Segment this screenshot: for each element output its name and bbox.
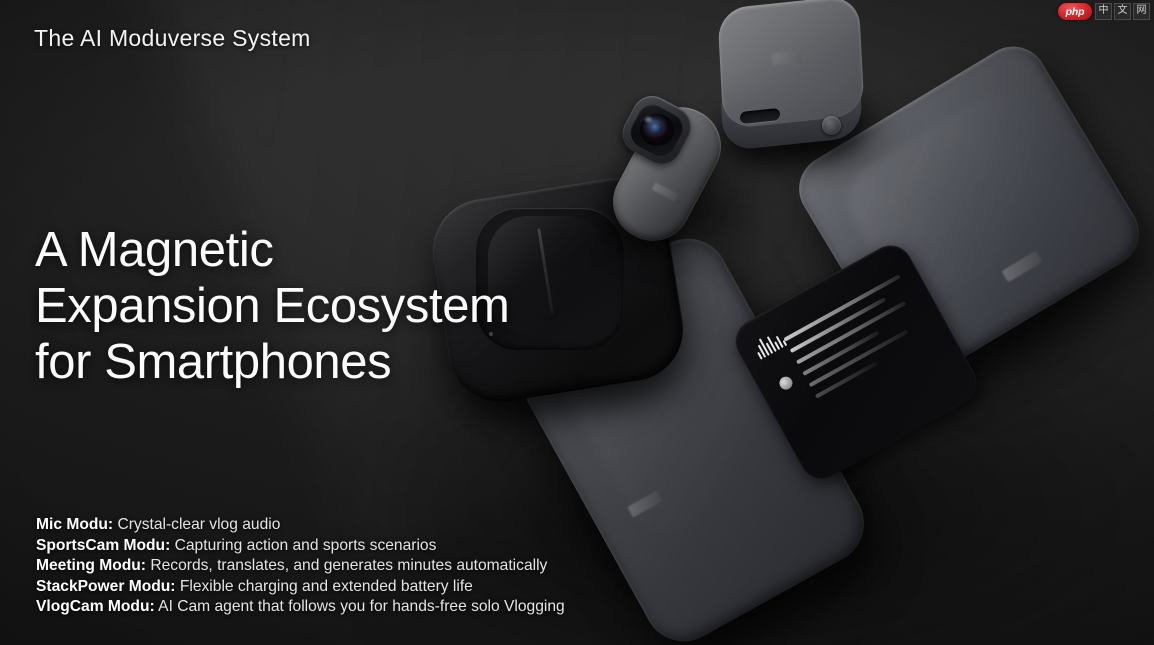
cube-power-button[interactable] <box>822 116 841 135</box>
feature-desc: Crystal-clear vlog audio <box>117 516 280 533</box>
eyebrow-title: The AI Moduverse System <box>34 25 311 52</box>
watermark-char: 文 <box>1114 3 1131 20</box>
watermark-char: 中 <box>1095 3 1112 20</box>
list-item: Mic Modu: Crystal-clear vlog audio <box>36 515 565 536</box>
hero-poster: The AI Moduverse System A Magnetic Expan… <box>0 0 1154 645</box>
feature-name: StackPower Modu: <box>36 578 176 595</box>
transcript-line <box>790 297 886 353</box>
feature-name: Mic Modu: <box>36 516 113 533</box>
feature-desc: AI Cam agent that follows you for hands-… <box>158 598 565 615</box>
list-item: VlogCam Modu: AI Cam agent that follows … <box>36 597 565 618</box>
headline-line-2: Expansion Ecosystem <box>35 278 509 334</box>
watermark-cn-text: 中 文 网 <box>1095 3 1150 20</box>
sportscam-lens-specular <box>645 117 652 122</box>
list-item: StackPower Modu: Flexible charging and e… <box>36 577 565 598</box>
transcript-line <box>796 301 906 365</box>
feature-list: Mic Modu: Crystal-clear vlog audio Sport… <box>36 515 565 618</box>
feature-desc: Flexible charging and extended battery l… <box>180 578 473 595</box>
transcript-line <box>809 329 909 387</box>
headline-line-1: A Magnetic <box>35 222 509 278</box>
transcript-lines <box>783 270 943 406</box>
audio-waveform-icon <box>751 328 787 360</box>
sportscam-lens-pupil <box>649 122 663 135</box>
php-logo-icon: php <box>1058 3 1092 20</box>
watermark: php 中 文 网 <box>1058 3 1150 20</box>
feature-desc: Records, translates, and generates minut… <box>150 557 547 574</box>
speaker-avatar-icon <box>777 374 795 392</box>
feature-name: Meeting Modu: <box>36 557 146 574</box>
list-item: SportsCam Modu: Capturing action and spo… <box>36 536 565 557</box>
feature-name: SportsCam Modu: <box>36 537 170 554</box>
device-mic-modu <box>688 150 808 260</box>
transcript-line <box>783 274 900 341</box>
feature-desc: Capturing action and sports scenarios <box>175 537 437 554</box>
feature-name: VlogCam Modu: <box>36 598 155 615</box>
watermark-char: 网 <box>1133 3 1150 20</box>
list-item: Meeting Modu: Records, translates, and g… <box>36 556 565 577</box>
page-title: A Magnetic Expansion Ecosystem for Smart… <box>35 222 509 390</box>
headline-line-3: for Smartphones <box>35 334 509 390</box>
